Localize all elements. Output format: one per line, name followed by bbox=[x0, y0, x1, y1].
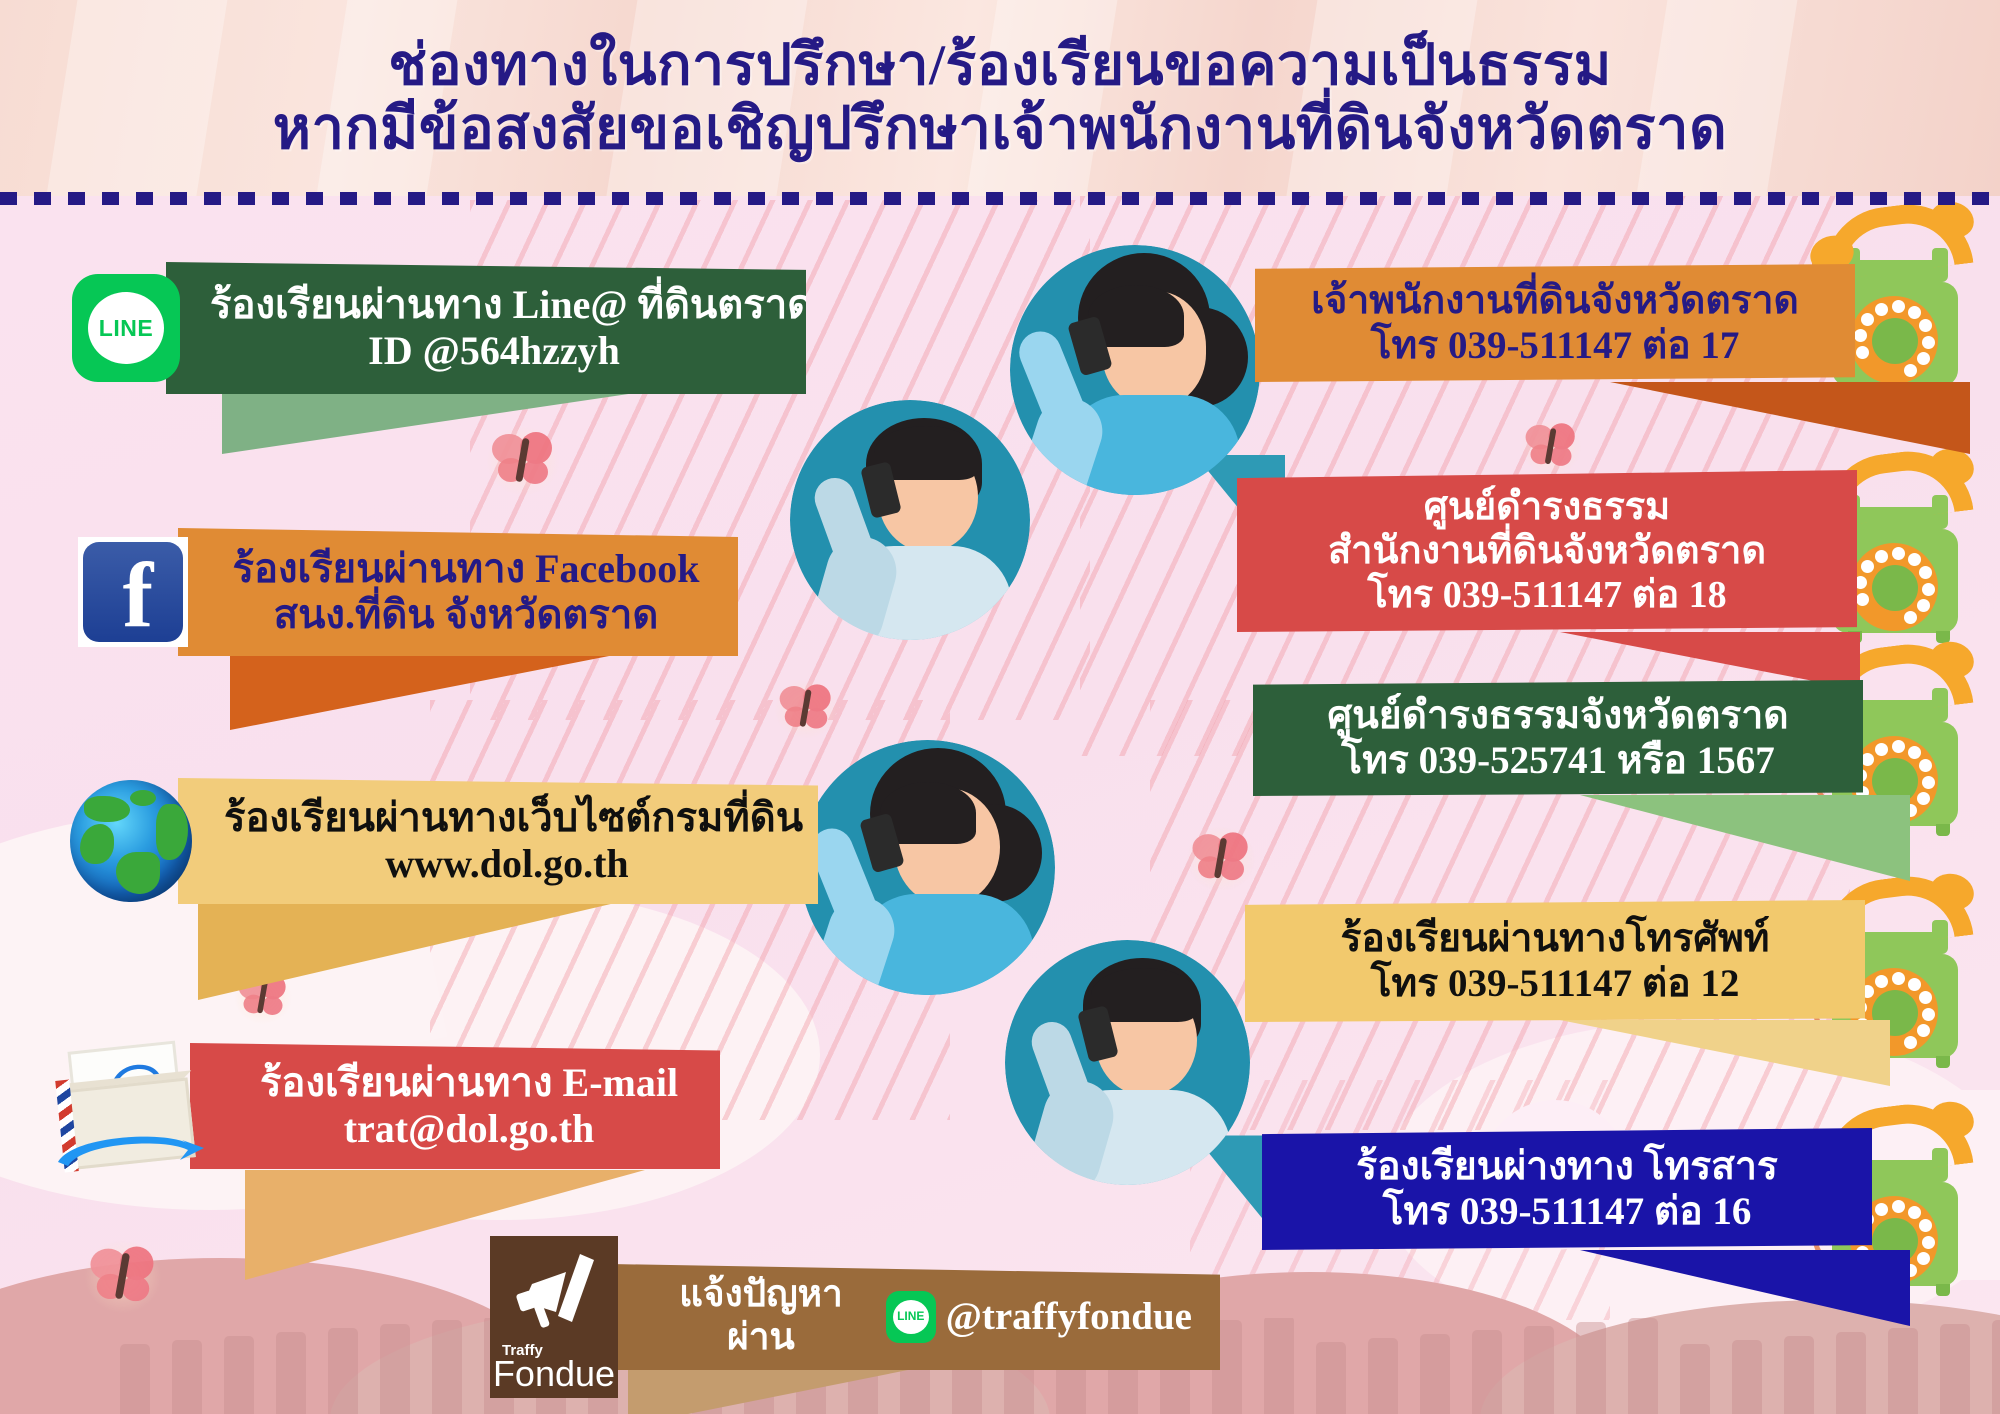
channel-line-1: ร้องเรียนผ่านทาง Line@ ที่ดินตราด bbox=[210, 282, 778, 328]
dial-hole bbox=[1875, 975, 1888, 988]
facebook-icon: f bbox=[78, 537, 188, 647]
dial-hole bbox=[1917, 1252, 1930, 1265]
banner-tail bbox=[222, 392, 642, 454]
page-title: ช่องทางในการปรึกษา/ร้องเรียนขอความเป็นธร… bbox=[0, 0, 2000, 196]
dial-hole bbox=[1919, 566, 1932, 579]
channel-line-3: โทร 039-511147 ต่อ 18 bbox=[1263, 573, 1831, 617]
line-icon: LINE bbox=[72, 274, 180, 382]
dial-hole bbox=[1856, 593, 1869, 606]
banner-tail bbox=[1560, 1020, 1890, 1086]
channel-line-2: โทร 039-525741 หรือ 1567 bbox=[1281, 738, 1835, 783]
channel-line-2: trat@dol.go.th bbox=[246, 1106, 692, 1152]
channel-line-1: ร้องเรียนผ่างทาง โทรสาร bbox=[1290, 1144, 1844, 1189]
infographic-canvas: ช่องทางในการปรึกษา/ร้องเรียนขอความเป็นธร… bbox=[0, 0, 2000, 1414]
dotted-divider bbox=[0, 192, 2000, 205]
dial-hole bbox=[1892, 547, 1905, 560]
person-on-phone-illustration bbox=[1005, 940, 1250, 1185]
dial-hole bbox=[1922, 583, 1935, 596]
banner-tail bbox=[1610, 382, 1970, 454]
banner-tail bbox=[1580, 795, 1910, 881]
megaphone-icon bbox=[508, 1250, 602, 1330]
footer-text: แจ้งปัญหา ผ่าน bbox=[646, 1274, 876, 1360]
butterfly-icon bbox=[1526, 423, 1577, 471]
channel-line-1: ศูนย์ดำรงธรรม bbox=[1263, 485, 1831, 529]
dial-hole bbox=[1892, 972, 1905, 985]
person-on-phone-illustration bbox=[800, 740, 1055, 995]
dial-hole bbox=[1908, 978, 1921, 991]
dial-hole bbox=[1892, 1200, 1905, 1213]
dial-hole bbox=[1908, 1206, 1921, 1219]
dial-hole bbox=[1908, 746, 1921, 759]
footer-handle: @traffyfondue bbox=[946, 1294, 1192, 1339]
dial-hole bbox=[1922, 776, 1935, 789]
line-badge-label: LINE bbox=[893, 1300, 929, 1334]
channel-line-1: ร้องเรียนผ่านทางโทรศัพท์ bbox=[1273, 916, 1837, 961]
globe-icon bbox=[70, 780, 192, 902]
dial-hole bbox=[1922, 1236, 1935, 1249]
dial-hole bbox=[1919, 1219, 1932, 1232]
dial-hole bbox=[1917, 352, 1930, 365]
channel-land-officer[interactable]: เจ้าพนักงานที่ดินจังหวัดตราด โทร 039-511… bbox=[1255, 264, 1855, 382]
channel-line-2: โทร 039-511147 ต่อ 17 bbox=[1283, 323, 1827, 368]
channel-email[interactable]: @ ร้องเรียนผ่านทาง E-mail trat@dol.go.th bbox=[58, 1040, 720, 1172]
dial-hole bbox=[1856, 346, 1869, 359]
dial-hole bbox=[1875, 1203, 1888, 1216]
channel-line-1: ร้องเรียนผ่านทางเว็บไซต์กรมที่ดิน bbox=[224, 795, 790, 841]
dial-hole bbox=[1919, 319, 1932, 332]
dial-hole bbox=[1892, 300, 1905, 313]
channel-website[interactable]: ร้องเรียนผ่านทางเว็บไซต์กรมที่ดิน www.do… bbox=[70, 778, 818, 904]
dial-hole bbox=[1919, 759, 1932, 772]
channel-telephone[interactable]: ร้องเรียนผ่านทางโทรศัพท์ โทร 039-511147 … bbox=[1245, 900, 1865, 1022]
person-on-phone-illustration bbox=[790, 400, 1030, 640]
dial-hole bbox=[1875, 743, 1888, 756]
line-icon: LINE bbox=[886, 1291, 936, 1343]
dial-hole bbox=[1917, 1024, 1930, 1037]
title-line-1: ช่องทางในการปรึกษา/ร้องเรียนขอความเป็นธร… bbox=[388, 36, 1612, 95]
logo-bottom-text: Fondue bbox=[493, 1356, 615, 1392]
dial-hole bbox=[1917, 792, 1930, 805]
person-on-phone-illustration bbox=[1010, 245, 1260, 495]
traffy-fondue-logo: Traffy Fondue bbox=[490, 1236, 618, 1398]
channel-line-1: เจ้าพนักงานที่ดินจังหวัดตราด bbox=[1283, 278, 1827, 323]
channel-line-1: ศูนย์ดำรงธรรมจังหวัดตราด bbox=[1281, 693, 1835, 738]
channel-facebook[interactable]: f ร้องเรียนผ่านทาง Facebook สนง.ที่ดิน จ… bbox=[78, 528, 738, 656]
channel-line-1: ร้องเรียนผ่านทาง E-mail bbox=[246, 1060, 692, 1106]
channel-damrongtham-province[interactable]: ศูนย์ดำรงธรรมจังหวัดตราด โทร 039-525741 … bbox=[1253, 680, 1863, 796]
channel-line-2: ID @564hzzyh bbox=[210, 328, 778, 374]
butterfly-icon bbox=[1192, 832, 1249, 885]
banner-tail bbox=[1580, 1250, 1910, 1326]
footer-traffy-fondue[interactable]: Traffy Fondue แจ้งปัญหา ผ่าน LINE @traff… bbox=[490, 1236, 1220, 1398]
header-banner: ช่องทางในการปรึกษา/ร้องเรียนขอความเป็นธร… bbox=[0, 0, 2000, 196]
title-line-2: หากมีข้อสงสัยขอเชิญปรึกษาเจ้าพนักงานที่ด… bbox=[273, 99, 1728, 159]
dial-hole bbox=[1875, 550, 1888, 563]
arrow-icon bbox=[54, 1118, 204, 1170]
dial-hole bbox=[1917, 599, 1930, 612]
channel-fax[interactable]: ร้องเรียนผ่างทาง โทรสาร โทร 039-511147 ต… bbox=[1262, 1128, 1872, 1250]
dial-hole bbox=[1922, 1008, 1935, 1021]
dial-hole bbox=[1892, 740, 1905, 753]
banner-tail bbox=[230, 650, 640, 730]
channel-damrongtham-office[interactable]: ศูนย์ดำรงธรรม สำนักงานที่ดินจังหวัดตราด … bbox=[1237, 470, 1857, 632]
channel-line-2: โทร 039-511147 ต่อ 12 bbox=[1273, 961, 1837, 1006]
channel-line-2: สำนักงานที่ดินจังหวัดตราด bbox=[1263, 529, 1831, 573]
dial-hole bbox=[1908, 306, 1921, 319]
envelope-icon: @ bbox=[58, 1040, 208, 1172]
channel-line[interactable]: LINE ร้องเรียนผ่านทาง Line@ ที่ดินตราด I… bbox=[72, 262, 806, 394]
dial-hole bbox=[1875, 303, 1888, 316]
channel-line-2: สนง.ที่ดิน จังหวัดตราด bbox=[222, 592, 710, 638]
channel-line-2: โทร 039-511147 ต่อ 16 bbox=[1290, 1189, 1844, 1234]
channel-line-2: www.dol.go.th bbox=[224, 841, 790, 887]
dial-hole bbox=[1919, 991, 1932, 1004]
channel-line-1: ร้องเรียนผ่านทาง Facebook bbox=[222, 546, 710, 592]
dial-hole bbox=[1908, 553, 1921, 566]
dial-hole bbox=[1922, 336, 1935, 349]
butterfly-icon bbox=[90, 1247, 155, 1308]
banner-tail bbox=[198, 900, 628, 1000]
butterfly-icon bbox=[780, 684, 833, 733]
